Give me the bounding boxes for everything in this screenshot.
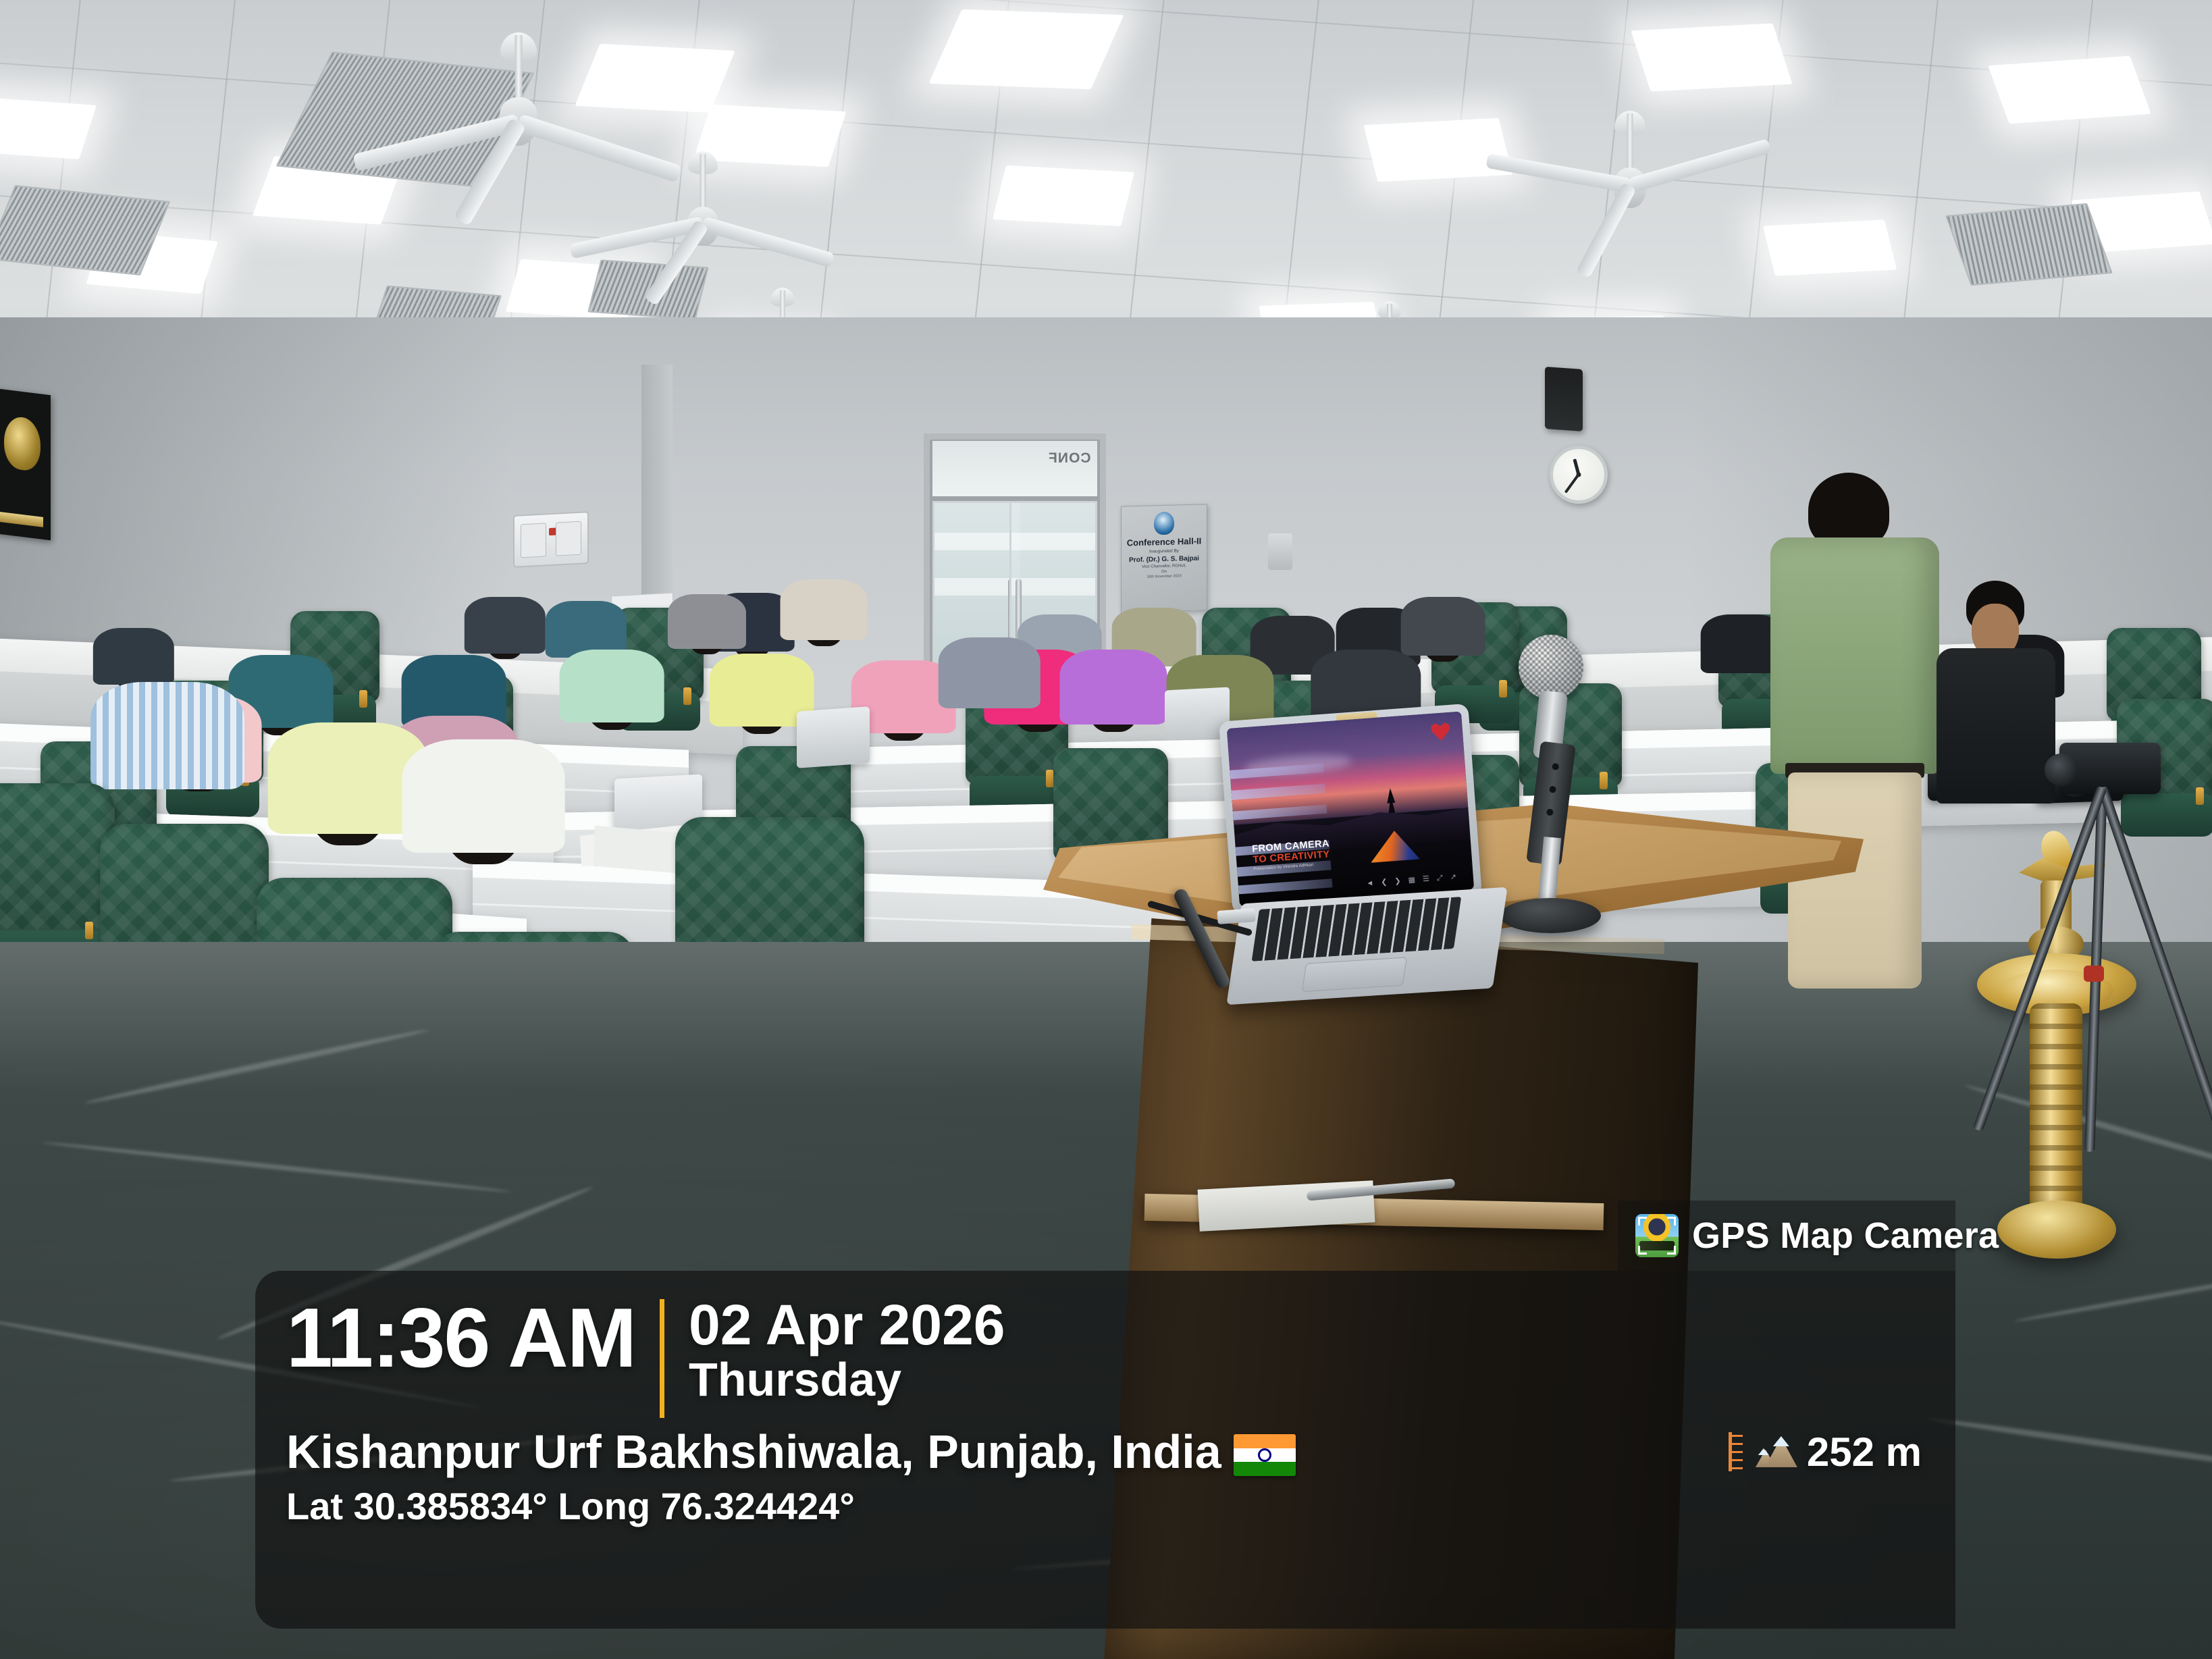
ac-vent — [0, 185, 170, 275]
india-flag-icon — [1234, 1434, 1296, 1476]
door-transom: CONF — [932, 441, 1097, 496]
gps-altitude: 252 m — [1807, 1429, 1922, 1475]
gps-divider — [660, 1299, 664, 1418]
ac-vent — [1945, 203, 2113, 286]
intercom-phone[interactable] — [1268, 533, 1292, 570]
ceiling-light-panel — [1763, 219, 1897, 275]
gps-place-row: Kishanpur Urf Bakhshiwala, Punjab, India… — [286, 1425, 1926, 1479]
tripod-lock-knob[interactable] — [2084, 966, 2104, 982]
ceiling-light-panel — [1631, 23, 1792, 91]
hall-sign-inaugurated: Inaugurated By — [1122, 548, 1207, 555]
laptop-screen[interactable]: FROM CAMERA TO CREATIVITY Presentation b… — [1227, 712, 1474, 907]
gps-time: 11:36 AM — [286, 1296, 660, 1380]
snow-mountain-icon — [1756, 1436, 1797, 1467]
ceiling-fan — [1614, 113, 1646, 199]
laptop-lid: FROM CAMERA TO CREATIVITY Presentation b… — [1219, 704, 1482, 914]
photo-canvas: CONF Conference Hall-II Inaugurated By P… — [0, 0, 2212, 1659]
wall-speaker — [1545, 367, 1583, 431]
plaque-emblem-icon — [4, 415, 41, 473]
microphone-head-icon — [1519, 635, 1583, 700]
tripod-camera — [2059, 743, 2161, 794]
gps-info-panel: 11:36 AM 02 Apr 2026 Thursday Kishanpur … — [255, 1271, 1955, 1629]
ceiling-light-panel — [1364, 118, 1513, 182]
ceiling-fan — [687, 154, 718, 236]
wall-clock — [1550, 446, 1608, 504]
university-logo-icon — [1154, 512, 1174, 535]
plaque-nameplate — [0, 512, 43, 527]
microphone-base — [1500, 898, 1601, 933]
clock-center-dot — [1577, 473, 1581, 477]
presenter-laptop[interactable]: FROM CAMERA TO CREATIVITY Presentation b… — [1226, 712, 1506, 996]
gps-map-camera-app-icon — [1635, 1214, 1679, 1257]
gps-altitude-block: 252 m — [1729, 1429, 1926, 1475]
laptop-trackpad[interactable] — [1302, 957, 1407, 992]
gps-date-block: 02 Apr 2026 Thursday — [664, 1296, 1005, 1405]
gps-coordinates: Lat 30.385834° Long 76.324424° — [286, 1484, 1926, 1528]
wall-switch-panel[interactable] — [513, 511, 589, 568]
microphone[interactable] — [1496, 635, 1604, 918]
presenter-shirt — [1770, 537, 1939, 774]
gps-time-date-row: 11:36 AM 02 Apr 2026 Thursday — [286, 1296, 1926, 1418]
ceiling-fan — [500, 35, 537, 136]
slide-transition-bars — [1230, 761, 1333, 896]
media-player-controls[interactable]: ◄ ❮ ❯ ▦ ☰ ⤢ ↗ — [1366, 872, 1460, 888]
ceiling-light-panel — [929, 9, 1124, 89]
hall-sign-person: Prof. (Dr.) G. S. Bajpai — [1122, 555, 1207, 564]
conference-hall-sign: Conference Hall-II Inaugurated By Prof. … — [1121, 504, 1207, 612]
ceiling-light-panel — [575, 44, 735, 113]
wall-plaque — [0, 388, 51, 540]
indicator-light-icon — [549, 528, 556, 536]
ruler-icon — [1729, 1432, 1746, 1471]
slide-title-block: FROM CAMERA TO CREATIVITY Presentation b… — [1252, 839, 1331, 872]
camera-lens-icon — [2045, 754, 2078, 786]
door-sign-text: CONF — [1048, 450, 1091, 467]
gps-place: Kishanpur Urf Bakhshiwala, Punjab, India — [286, 1425, 1296, 1479]
hall-sign-title: Conference Hall-II — [1122, 536, 1207, 548]
laptop-plug-icon — [1217, 908, 1255, 924]
gps-weekday: Thursday — [689, 1354, 1005, 1406]
gps-app-name: GPS Map Camera — [1692, 1215, 1999, 1257]
laptop-on-desk — [797, 706, 870, 768]
gps-map-camera-badge: GPS Map Camera — [1618, 1201, 1955, 1271]
laptop-keyboard[interactable] — [1252, 897, 1462, 962]
ceiling-light-panel — [993, 165, 1134, 226]
camera-tripod — [2019, 743, 2212, 1161]
ceiling-light-panel — [1988, 56, 2151, 124]
gps-date: 02 Apr 2026 — [689, 1296, 1005, 1354]
laptop-base — [1226, 887, 1507, 1005]
gps-place-text: Kishanpur Urf Bakhshiwala, Punjab, India — [286, 1425, 1221, 1478]
